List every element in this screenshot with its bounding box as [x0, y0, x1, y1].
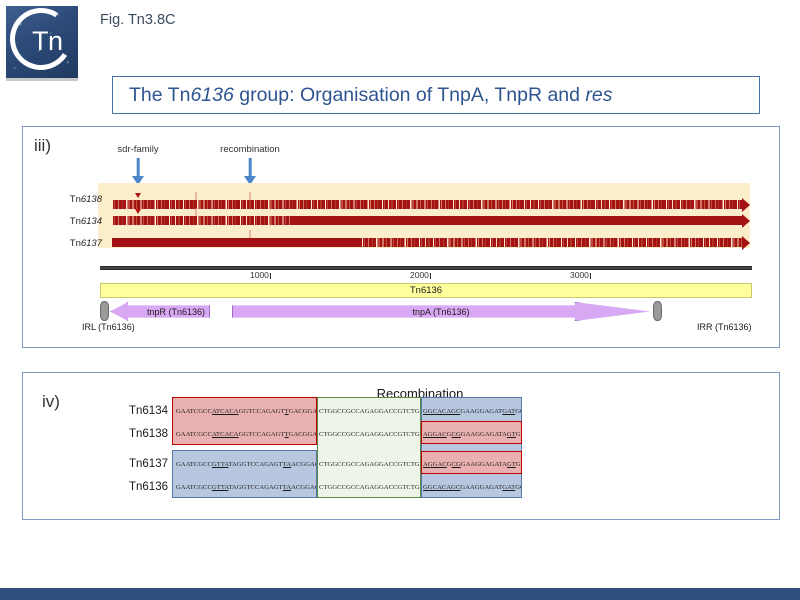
- title-italic-6136: 6136: [190, 84, 233, 106]
- tn6136-extent-label: Tn6136: [410, 285, 442, 296]
- gene-tnpr-label: tnpR (Tn6136): [147, 307, 205, 317]
- seq-left-tn6134: GAATCGCCATCACAGGTCCAGAGTTGACGGACATATTCAT…: [176, 409, 316, 416]
- figure-caption: Fig. Tn3.8C: [100, 12, 176, 28]
- seq-mid-tn6134: CTGGCCGCCAGAGGACCGTCTGACGGAC: [319, 409, 420, 416]
- irl-box: [100, 301, 109, 321]
- tn6136-extent-bar: Tn6136: [100, 283, 752, 298]
- slide-title-box: The Tn6136 group: Organisation of TnpA, …: [112, 76, 760, 114]
- seq-mid-tn6137: CTGGCCGCCAGAGGACCGTCTGACGGAC: [319, 462, 420, 469]
- ruler-tick-1000-label: 1000: [250, 270, 269, 280]
- panel-iv-label: iv): [42, 392, 60, 412]
- ruler-tick-1000: 1000: [250, 270, 271, 280]
- page-title: The Tn6136 group: Organisation of TnpA, …: [129, 84, 613, 107]
- seq-right-tn6136: GGCACAGCGAAGGAGATGATGCTTGGC: [423, 485, 521, 492]
- track-tn6134-arrowhead: [742, 214, 750, 228]
- gene-tnpa-label: tnpA (Tn6136): [412, 307, 469, 317]
- logo-tn-text: Tn: [32, 26, 63, 57]
- title-middle: group: Organisation of TnpA, TnpR and: [234, 84, 586, 106]
- track-label-tn6138: Tn6138: [42, 194, 102, 205]
- track-tn6134-stripes: [112, 216, 290, 225]
- title-prefix: The Tn: [129, 84, 190, 106]
- annotation-recombination-shaft: [249, 158, 252, 176]
- seq-row-label-tn6137: Tn6137: [98, 458, 168, 470]
- track-tn6137-arrowhead: [742, 236, 750, 250]
- seq-mid-tn6138: CTGGCCGCCAGAGGACCGTCTGACGGAC: [319, 432, 420, 439]
- annotation-sdr-family-label: sdr-family: [117, 144, 158, 155]
- ruler-tick-2000: 2000: [410, 270, 431, 280]
- panel-iii-label: iii): [34, 136, 51, 156]
- annotation-recombination-label: recombination: [220, 144, 280, 155]
- irr-box: [653, 301, 662, 321]
- track-tn6138: [112, 200, 742, 209]
- title-italic-res: res: [585, 84, 612, 106]
- track-vtick-tn6138-a: [196, 192, 197, 200]
- seq-right-tn6138: AGGACGCGGAAGGAGATAGTGCTTGGC: [423, 432, 521, 439]
- seq-left-tn6138: GAATCGCCATCACAGGTCCAGAGTTGACGGACATATTCAT…: [176, 432, 316, 439]
- track-tn6138-arrowhead: [742, 198, 750, 212]
- slide-bottom-strip: [0, 588, 800, 600]
- track-vtick-tn6138-b: [250, 192, 251, 200]
- track-tn6137: [112, 238, 742, 247]
- ruler-tick-1000-mark: [270, 273, 271, 279]
- ruler-tick-2000-label: 2000: [410, 270, 429, 280]
- ruler-tick-3000-label: 3000: [570, 270, 589, 280]
- track-vtick-tn6134-a: [196, 208, 197, 216]
- seq-left-tn6136: GAATCGCCGTTATAGGTCCAGAGTTAACGGACATATTCCT…: [176, 485, 316, 492]
- logo-shadow: [6, 78, 78, 81]
- seq-right-tn6137: AGGACGCGGAAGGAGATAGTGCTTGGC: [423, 462, 521, 469]
- seq-left-tn6137: GAATCGCCGTTATAGGTCCAGAGTTAACGGACATATTCCT…: [176, 462, 316, 469]
- track-marker-tn6138: [135, 193, 141, 198]
- irl-label: IRL (Tn6136): [82, 322, 135, 332]
- track-tn6134: [112, 216, 742, 225]
- annotation-sdr-family-shaft: [137, 158, 140, 176]
- seq-mid-tn6136: CTGGCCGCCAGAGGACCGTCTGACGGAC: [319, 485, 420, 492]
- track-tn6137-stripes: [362, 238, 742, 247]
- track-label-tn6134: Tn6134: [42, 216, 102, 227]
- ruler-tick-2000-mark: [430, 273, 431, 279]
- seq-right-tn6134: GGCACAGCGAAGGAGATGATGCTTGGC: [423, 409, 521, 416]
- track-vtick-tn6137-a: [250, 230, 251, 238]
- irr-label: IRR (Tn6136): [697, 322, 752, 332]
- seq-row-label-tn6138: Tn6138: [98, 428, 168, 440]
- ruler-tick-3000: 3000: [570, 270, 591, 280]
- ctn-logo-icon: Tn: [6, 6, 78, 78]
- ruler-tick-3000-mark: [590, 273, 591, 279]
- seq-row-label-tn6136: Tn6136: [98, 481, 168, 493]
- track-marker-tn6134: [135, 209, 141, 214]
- track-tn6138-stripes: [112, 200, 742, 209]
- seq-row-label-tn6134: Tn6134: [98, 405, 168, 417]
- track-label-tn6137: Tn6137: [42, 238, 102, 249]
